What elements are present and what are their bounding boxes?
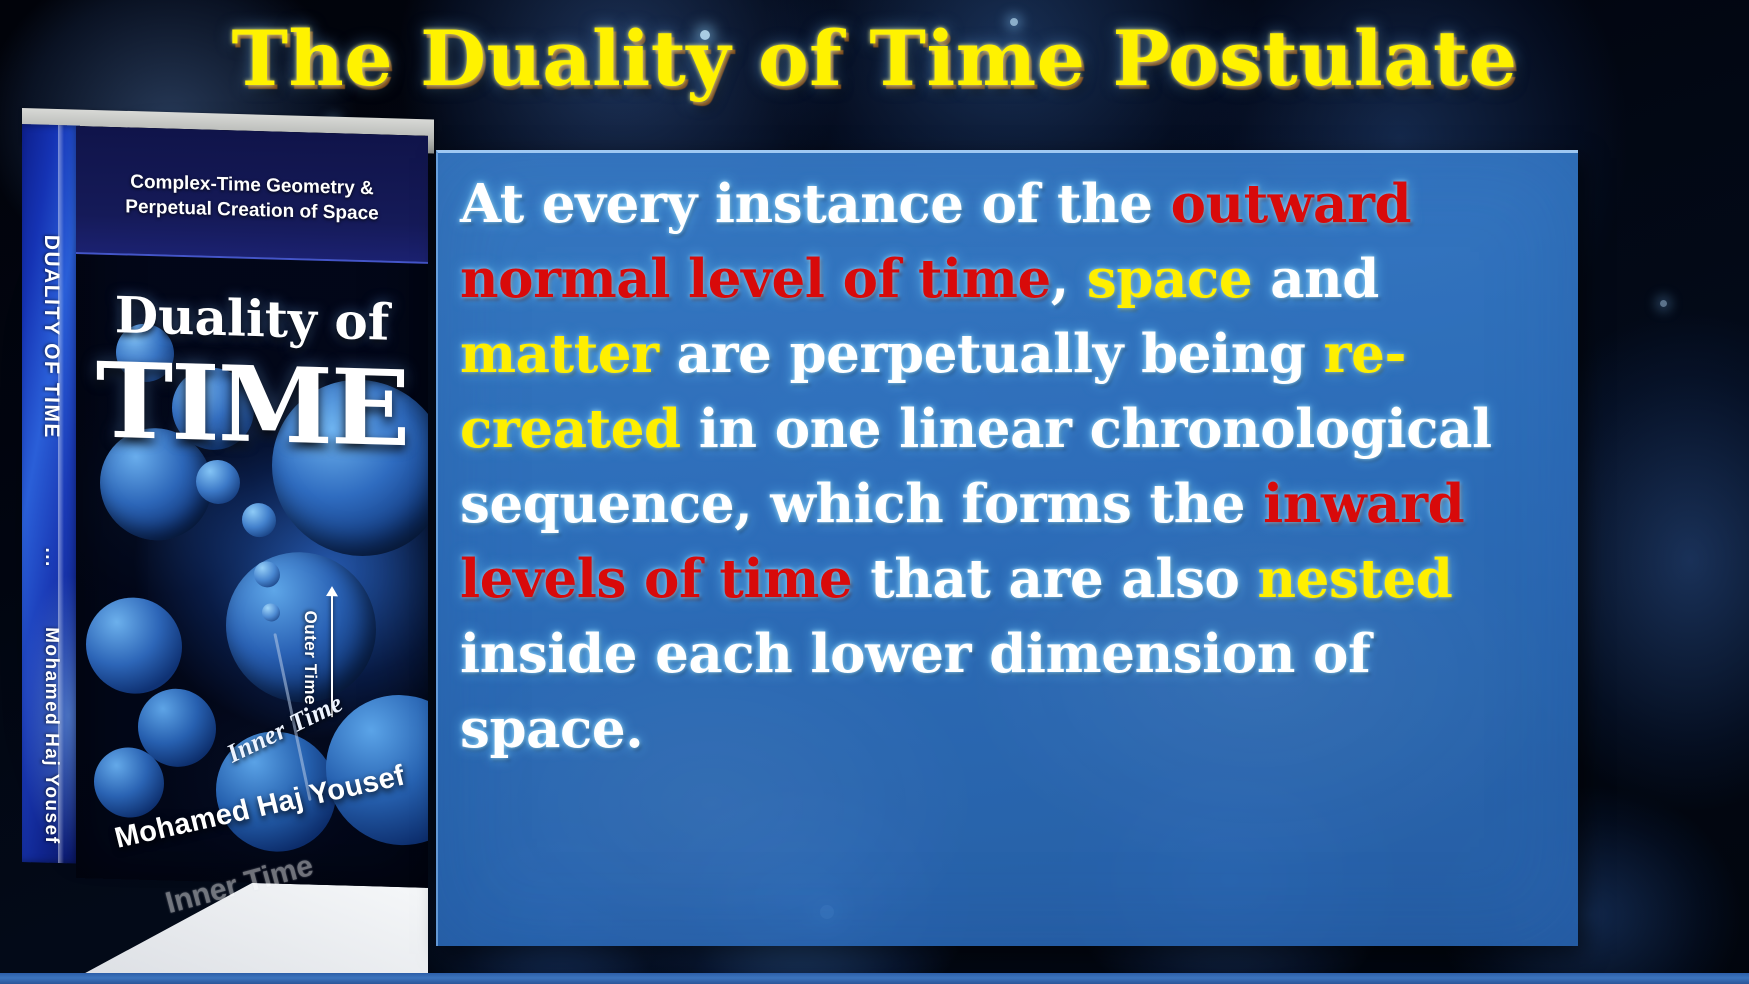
text-segment: At every instance of the <box>460 173 1171 235</box>
cover-bubble-icon <box>254 561 280 588</box>
book-spine: DUALITY OF TIME ... Mohamed Haj Yousef <box>22 124 80 864</box>
highlight-nested: nested <box>1258 548 1453 610</box>
slide-title: The Duality of Time Postulate <box>0 14 1749 103</box>
cover-bubble-icon <box>86 596 182 695</box>
book-cover-mockup: DUALITY OF TIME ... Mohamed Haj Yousef C… <box>14 108 434 868</box>
postulate-text-panel: At every instance of the outward normal … <box>436 150 1578 946</box>
bubble-highlight-icon <box>1660 300 1667 307</box>
inner-time-label: Inner Time <box>222 688 348 769</box>
book-cover-title-line-2: TIME <box>76 338 428 471</box>
book-cover-author: Mohamed Haj Yousef <box>110 759 409 856</box>
book-spine-author: Mohamed Haj Yousef <box>40 627 62 845</box>
text-segment: that are also <box>852 548 1257 610</box>
postulate-paragraph: At every instance of the outward normal … <box>460 167 1556 767</box>
text-segment: are perpetually being <box>659 323 1324 385</box>
outer-time-label: Outer Time <box>300 610 320 705</box>
text-segment: and <box>1252 248 1379 310</box>
text-segment: , <box>1051 248 1087 310</box>
slide-canvas: The Duality of Time Postulate DUALITY OF… <box>0 0 1749 984</box>
cover-bubble-icon <box>262 603 280 622</box>
cover-bubble-icon <box>94 747 164 819</box>
bottom-accent-strip <box>0 973 1749 984</box>
cover-bubble-icon <box>196 459 240 504</box>
text-segment: inside each lower dimension of space. <box>460 623 1370 760</box>
highlight-matter: matter <box>460 323 659 385</box>
highlight-space: space <box>1087 248 1252 310</box>
book-cover-subtitle: Complex-Time Geometry & Perpetual Creati… <box>76 168 428 228</box>
book-spine-separator: ... <box>40 547 62 568</box>
book-front-cover: Complex-Time Geometry & Perpetual Creati… <box>76 126 428 888</box>
cover-bubble-icon <box>242 503 276 538</box>
cover-bubble-icon <box>138 688 216 768</box>
book-spine-title: DUALITY OF TIME <box>39 234 63 439</box>
